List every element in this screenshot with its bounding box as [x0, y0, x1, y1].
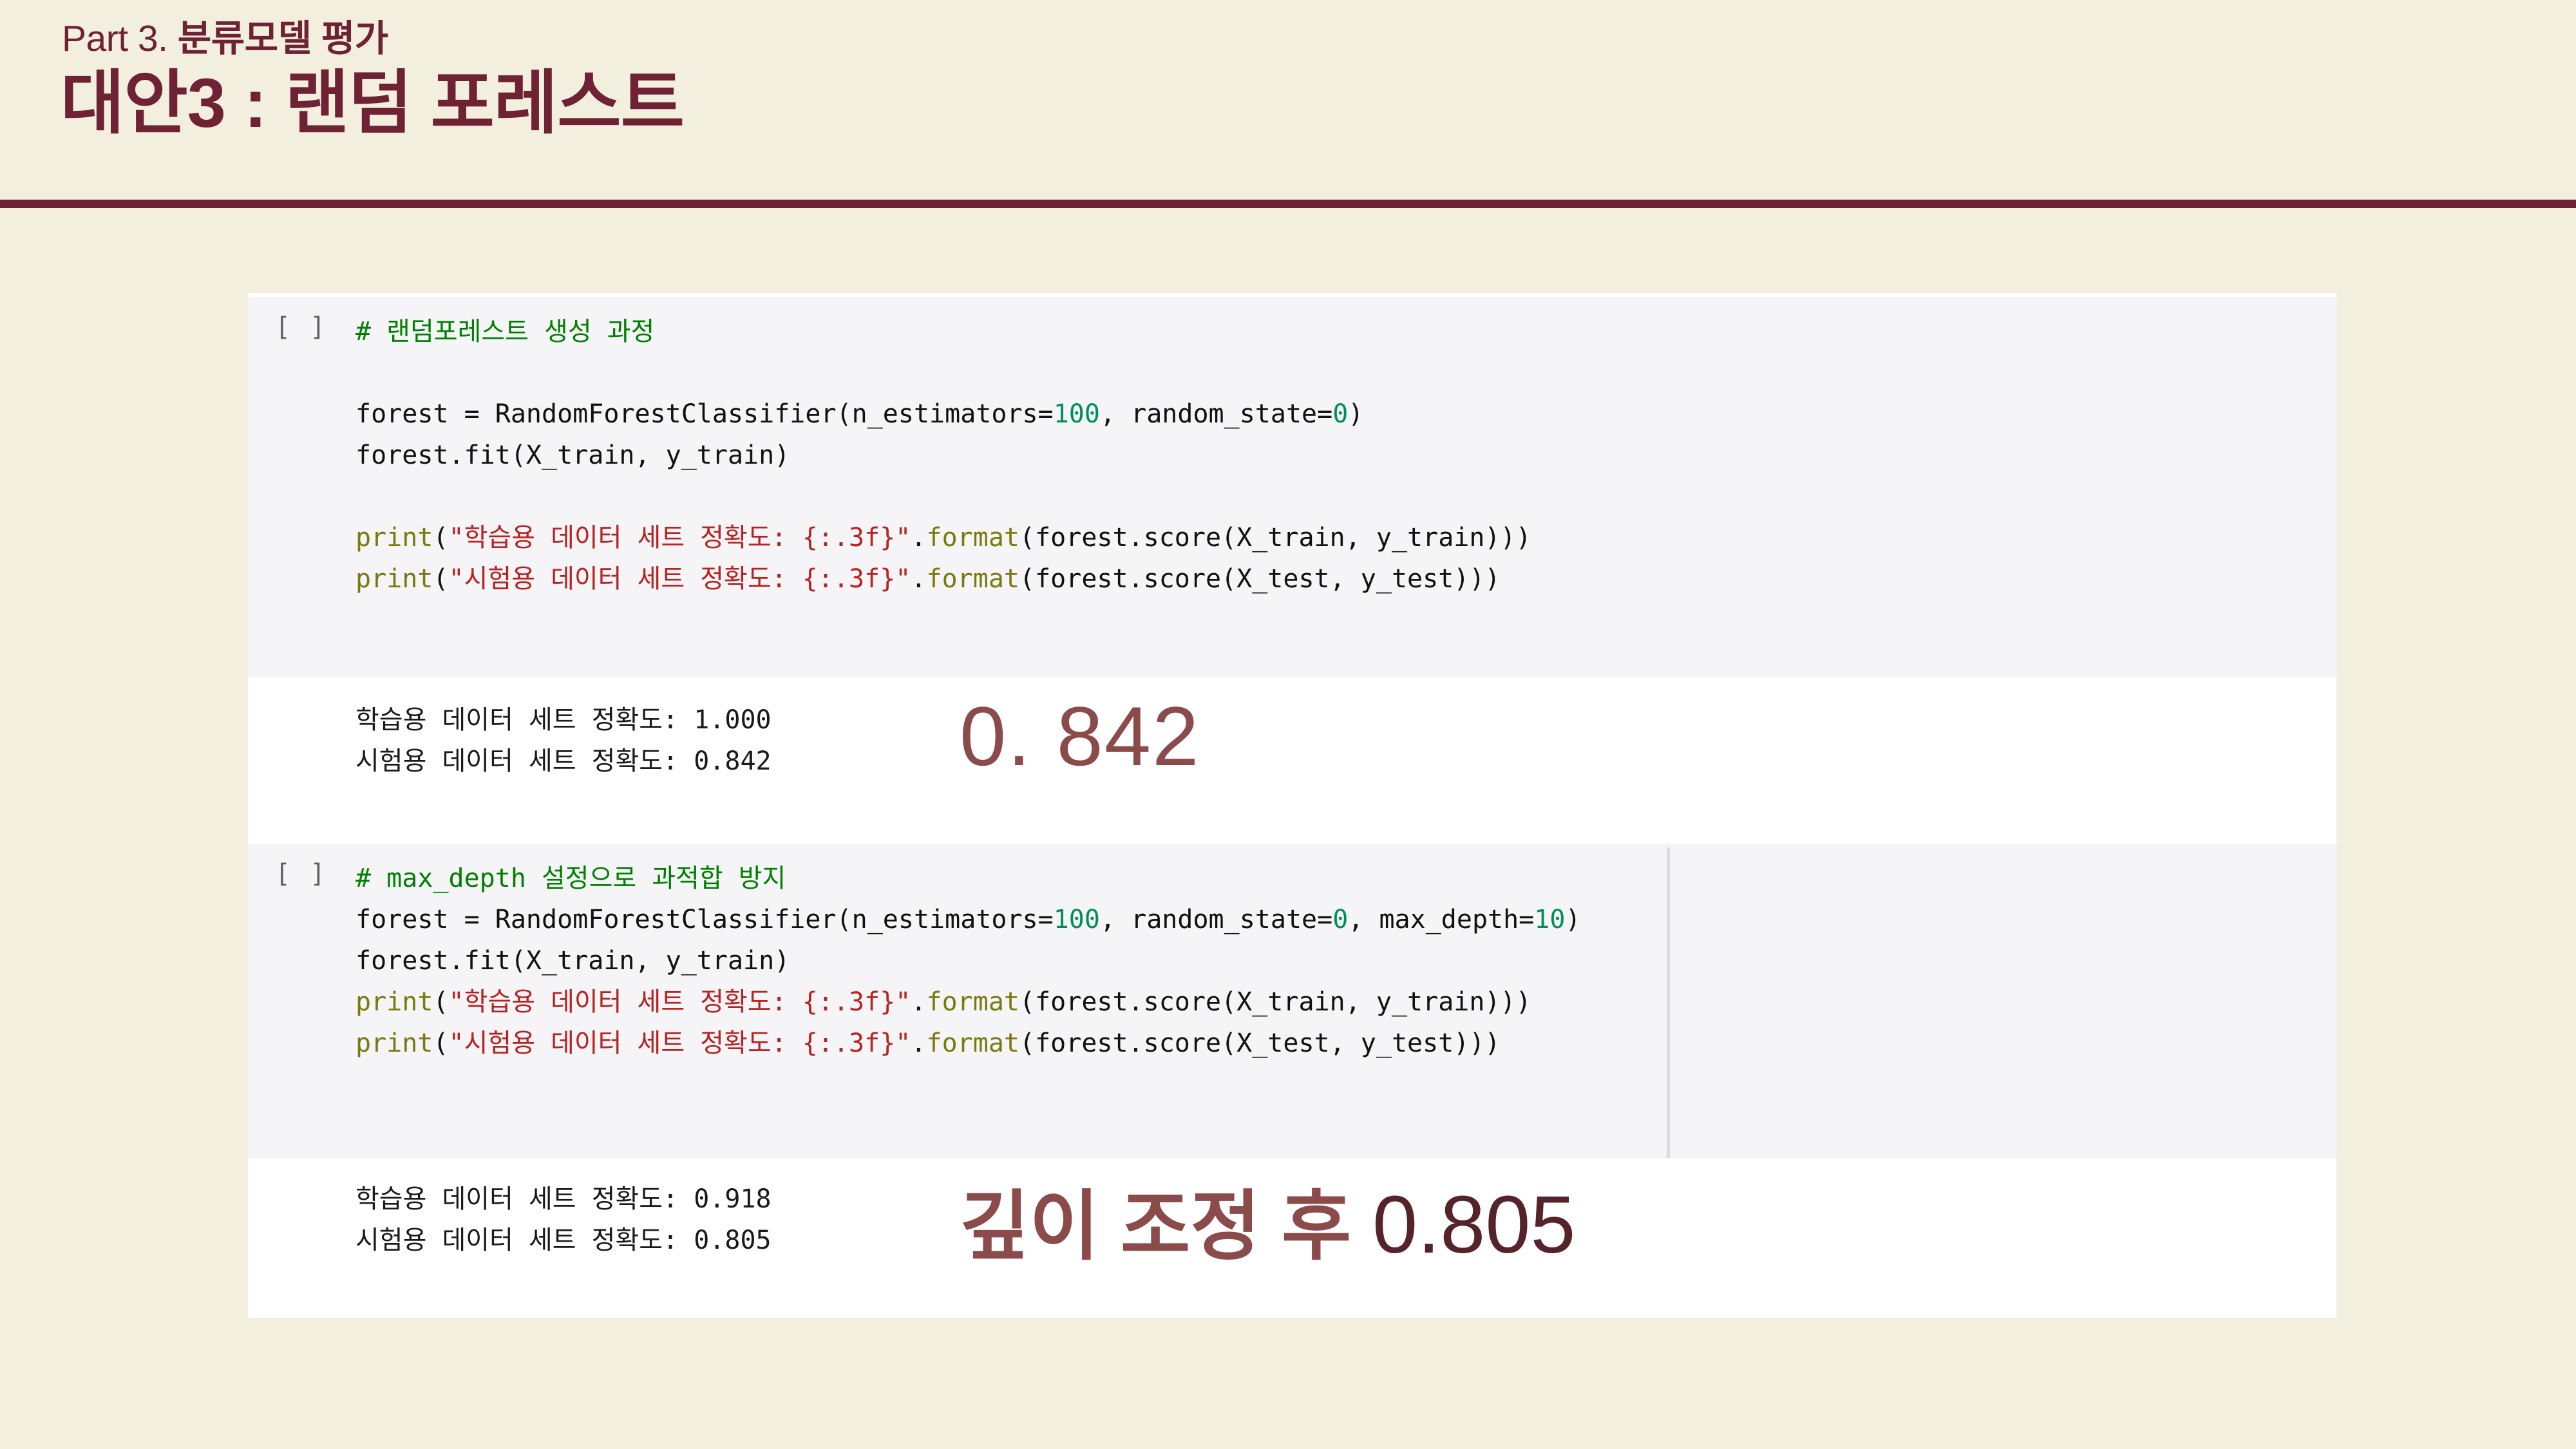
code-function: print	[355, 987, 433, 1017]
output-line: 시험용 데이터 세트 정확도: 0.842	[355, 746, 772, 776]
code-token: .	[911, 523, 926, 553]
output-text: 학습용 데이터 세트 정확도: 1.000 시험용 데이터 세트 정확도: 0.…	[355, 699, 772, 782]
eyebrow-part-topic: 분류모델 평가	[178, 18, 388, 59]
code-token: (forest.score(X_train, y_train)))	[1019, 987, 1531, 1017]
output-line: 학습용 데이터 세트 정확도: 1.000	[355, 705, 772, 735]
slide-eyebrow: Part 3. 분류모델 평가	[62, 9, 388, 62]
code-function: format	[926, 1028, 1019, 1058]
code-token: .	[911, 564, 926, 594]
code-cell[interactable]: [ ] # 랜덤포레스트 생성 과정 forest = RandomForest…	[248, 293, 2336, 681]
code-string: "학습용 데이터 세트 정확도: {:.3f}"	[449, 523, 911, 553]
cell-prompt-indicator[interactable]: [ ]	[275, 859, 327, 889]
code-token: , random_state=	[1100, 399, 1332, 429]
code-token: (	[433, 564, 448, 594]
code-function: format	[926, 523, 1019, 553]
code-token: (	[433, 1028, 448, 1058]
code-token: forest.fit(X_train, y_train)	[355, 440, 790, 470]
code-token: , max_depth=	[1348, 905, 1534, 934]
code-editor[interactable]: # 랜덤포레스트 생성 과정 forest = RandomForestClas…	[355, 311, 1531, 600]
code-number: 10	[1534, 905, 1565, 934]
code-editor[interactable]: # max_depth 설정으로 과적합 방지 forest = RandomF…	[355, 858, 1581, 1064]
code-token: (	[433, 987, 448, 1017]
code-token: forest = RandomForestClassifier(n_estima…	[355, 905, 1054, 934]
annotation-label: 깊이 조정 후	[960, 1184, 1351, 1269]
code-token: forest.fit(X_train, y_train)	[355, 946, 790, 976]
output-text: 학습용 데이터 세트 정확도: 0.918 시험용 데이터 세트 정확도: 0.…	[355, 1179, 772, 1261]
code-comment: # 랜덤포레스트 생성 과정	[355, 317, 654, 346]
code-number: 0	[1332, 399, 1348, 429]
code-token: (forest.score(X_test, y_test)))	[1019, 1028, 1501, 1058]
notebook-panel: [ ] # 랜덤포레스트 생성 과정 forest = RandomForest…	[248, 293, 2336, 1318]
code-comment: # max_depth 설정으로 과적합 방지	[355, 864, 786, 893]
page-title: 대안3 : 랜덤 포레스트	[61, 62, 684, 144]
code-token: .	[911, 987, 926, 1017]
code-token: (forest.score(X_test, y_test)))	[1019, 564, 1501, 594]
code-function: print	[355, 564, 433, 594]
code-token: (forest.score(X_train, y_train)))	[1019, 523, 1531, 553]
cell-prompt-indicator[interactable]: [ ]	[275, 312, 327, 342]
code-token: )	[1565, 905, 1580, 934]
eyebrow-part-label: Part 3.	[62, 18, 167, 59]
code-token: forest = RandomForestClassifier(n_estima…	[355, 399, 1054, 429]
code-string: "시험용 데이터 세트 정확도: {:.3f}"	[449, 564, 911, 594]
output-cell: 학습용 데이터 세트 정확도: 1.000 시험용 데이터 세트 정확도: 0.…	[248, 681, 2336, 840]
output-line: 학습용 데이터 세트 정확도: 0.918	[355, 1184, 772, 1214]
code-number: 100	[1054, 905, 1100, 934]
code-function: format	[926, 564, 1019, 594]
code-token: (	[433, 523, 448, 553]
editor-margin-line	[1667, 848, 1670, 1158]
code-cell[interactable]: [ ] # max_depth 설정으로 과적합 방지 forest = Ran…	[248, 840, 2336, 1162]
code-number: 100	[1054, 399, 1100, 429]
code-string: "학습용 데이터 세트 정확도: {:.3f}"	[449, 987, 911, 1017]
output-line: 시험용 데이터 세트 정확도: 0.805	[355, 1226, 772, 1255]
code-token: .	[911, 1028, 926, 1058]
annotation-depth-adjusted: 깊이 조정 후 0.805	[960, 1164, 1575, 1274]
code-token: )	[1348, 399, 1363, 429]
code-function: print	[355, 523, 433, 553]
code-number: 0	[1332, 905, 1348, 934]
code-token: , random_state=	[1100, 905, 1332, 934]
code-function: format	[926, 987, 1019, 1017]
code-string: "시험용 데이터 세트 정확도: {:.3f}"	[449, 1028, 911, 1058]
annotation-accuracy-value: 0. 842	[960, 688, 1200, 784]
annotation-accuracy-value: 0.805	[1372, 1179, 1575, 1270]
slide-header: Part 3. 분류모델 평가 대안3 : 랜덤 포레스트	[0, 0, 2576, 207]
output-cell: 학습용 데이터 세트 정확도: 0.918 시험용 데이터 세트 정확도: 0.…	[248, 1162, 2336, 1310]
code-function: print	[355, 1028, 433, 1058]
header-divider	[0, 200, 2576, 208]
